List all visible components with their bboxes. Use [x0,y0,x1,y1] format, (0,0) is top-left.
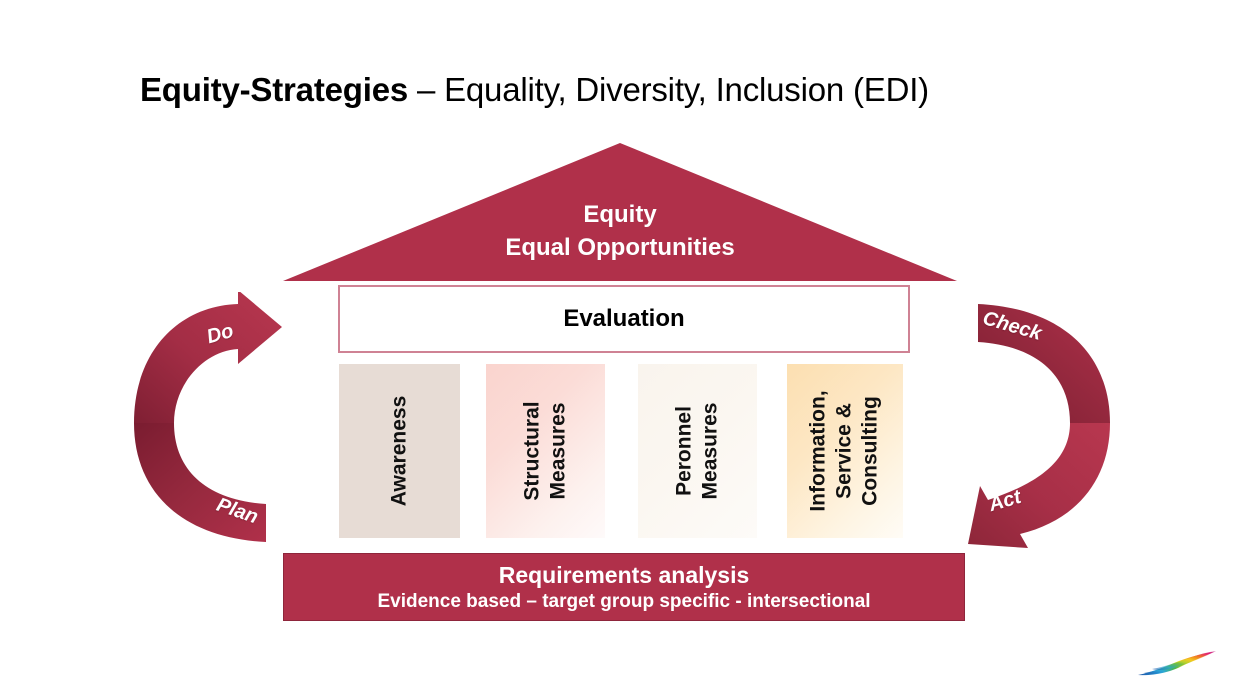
rainbow-swoosh-logo-icon [1132,643,1228,683]
pillar-personnel-measures-line2: Measures [698,403,721,500]
pillar-personnel-measures-label: Peronnel Measures [671,403,723,500]
pillar-awareness[interactable]: Awareness [339,364,460,538]
curved-arrow-left-icon [126,292,286,550]
pillar-structural-measures-line1: Structural [521,401,544,500]
pillar-structural-measures[interactable]: Structural Measures [486,364,605,538]
base-title: Requirements analysis [499,561,750,589]
evaluation-label: Evaluation [563,305,684,333]
page-title: Equity-Strategies – Equality, Diversity,… [140,68,1140,112]
pillar-information-line2: Service & [833,403,856,499]
pillar-personnel-measures-line1: Peronnel [672,406,695,496]
base-requirements-analysis[interactable]: Requirements analysis Evidence based – t… [283,553,965,621]
roof-triangle [283,143,957,283]
curved-arrow-right-icon [958,292,1118,550]
pillar-information-line3: Consulting [859,396,882,506]
page-title-rest: – Equality, Diversity, Inclusion (EDI) [408,71,929,108]
pillar-awareness-text: Awareness [388,396,411,507]
pillar-structural-measures-line2: Measures [547,403,570,500]
pillar-information-service-consulting[interactable]: Information, Service & Consulting [787,364,903,538]
slide-canvas: Equity-Strategies – Equality, Diversity,… [0,0,1260,692]
base-subtitle: Evidence based – target group specific -… [377,590,870,614]
pillar-information-line1: Information, [807,390,830,511]
pillar-personnel-measures[interactable]: Peronnel Measures [638,364,757,538]
page-title-strong: Equity-Strategies [140,71,408,108]
pillar-structural-measures-label: Structural Measures [520,401,572,500]
pillar-information-service-consulting-label: Information, Service & Consulting [806,390,884,511]
evaluation-box[interactable]: Evaluation [338,285,910,353]
pillar-awareness-label: Awareness [387,396,413,507]
